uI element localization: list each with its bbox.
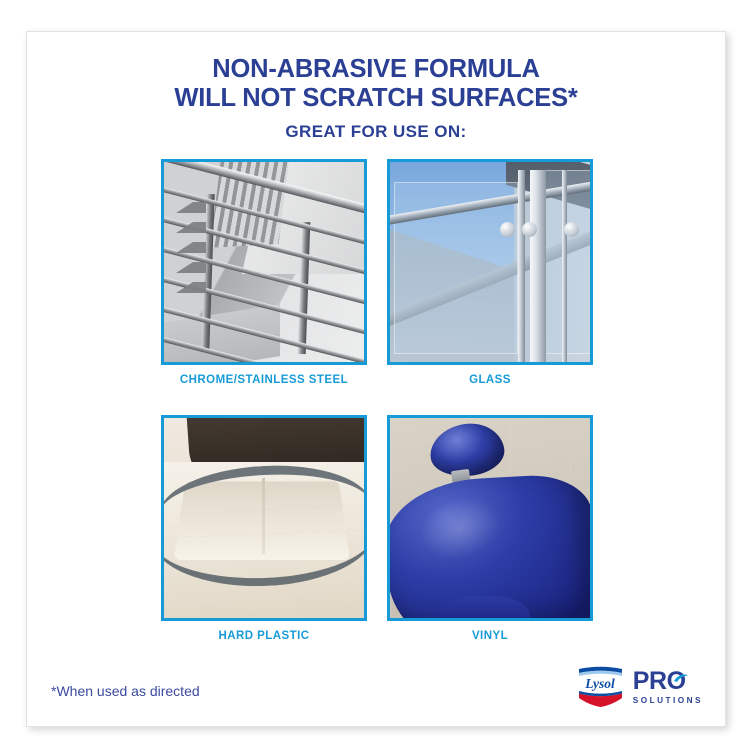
product-info-card: NON-ABRASIVE FORMULA WILL NOT SCRATCH SU…: [26, 31, 726, 727]
surface-thumbnail-chrome[interactable]: [161, 159, 367, 365]
surface-thumbnail-hard-plastic[interactable]: [161, 415, 367, 621]
subheading: GREAT FOR USE ON:: [27, 122, 725, 142]
footnote-disclaimer: *When used as directed: [51, 683, 200, 699]
surface-caption-glass: GLASS: [387, 374, 593, 386]
vinyl-chair-image: [390, 418, 590, 618]
pro-swoosh-icon: [673, 672, 689, 686]
lysol-wordmark-text: Lysol: [584, 676, 615, 691]
surface-cell-chrome-stainless-steel: CHROME/STAINLESS STEEL: [161, 159, 367, 386]
lysol-shield-icon: Lysol: [574, 666, 626, 708]
surface-grid-row-2: HARD PLASTIC: [161, 415, 593, 642]
headline-line-2: WILL NOT SCRATCH SURFACES*: [27, 84, 725, 113]
surface-caption-chrome: CHROME/STAINLESS STEEL: [161, 374, 367, 386]
stair-railing-image: [164, 162, 364, 362]
screenshot-root: NON-ABRASIVE FORMULA WILL NOT SCRATCH SU…: [0, 0, 750, 750]
plastic-container-image: [164, 418, 364, 618]
surface-caption-hard-plastic: HARD PLASTIC: [161, 630, 367, 642]
surface-grid-row-1: CHROME/STAINLESS STEEL: [161, 159, 593, 386]
page-title: NON-ABRASIVE FORMULA WILL NOT SCRATCH SU…: [27, 55, 725, 113]
pro-text-group: PRO: [633, 669, 703, 694]
glass-balustrade-image: [390, 162, 590, 362]
surface-grid: CHROME/STAINLESS STEEL: [161, 159, 593, 642]
surface-cell-vinyl: VINYL: [387, 415, 593, 642]
surface-thumbnail-vinyl[interactable]: [387, 415, 593, 621]
pro-solutions-wordmark: PRO SOLUTIONS: [633, 669, 703, 705]
surface-cell-hard-plastic: HARD PLASTIC: [161, 415, 367, 642]
surface-thumbnail-glass[interactable]: [387, 159, 593, 365]
headline-line-1: NON-ABRASIVE FORMULA: [212, 55, 540, 83]
surface-caption-vinyl: VINYL: [387, 630, 593, 642]
lysol-pro-solutions-logo: Lysol PRO SOLUTIONS: [574, 666, 703, 708]
surface-cell-glass: GLASS: [387, 159, 593, 386]
solutions-label: SOLUTIONS: [633, 697, 703, 705]
